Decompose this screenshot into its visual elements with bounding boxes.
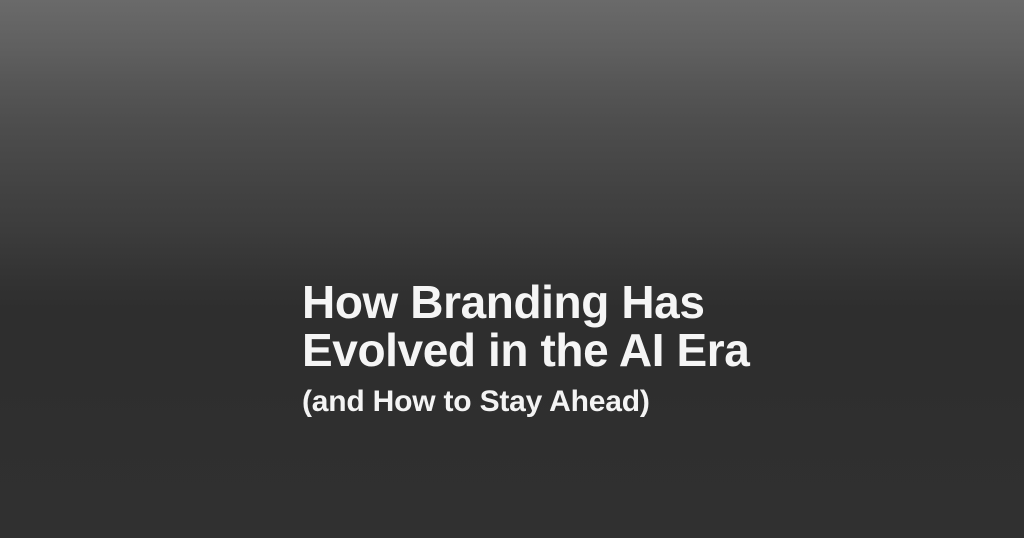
page-title-line-1: How Branding Has: [302, 278, 942, 326]
page-subtitle: (and How to Stay Ahead): [302, 385, 942, 419]
article-hero-banner: How Branding Has Evolved in the AI Era (…: [0, 0, 1024, 538]
headline-block: How Branding Has Evolved in the AI Era (…: [302, 278, 942, 419]
page-title: How Branding Has Evolved in the AI Era: [302, 278, 942, 374]
page-title-line-2: Evolved in the AI Era: [302, 326, 942, 374]
